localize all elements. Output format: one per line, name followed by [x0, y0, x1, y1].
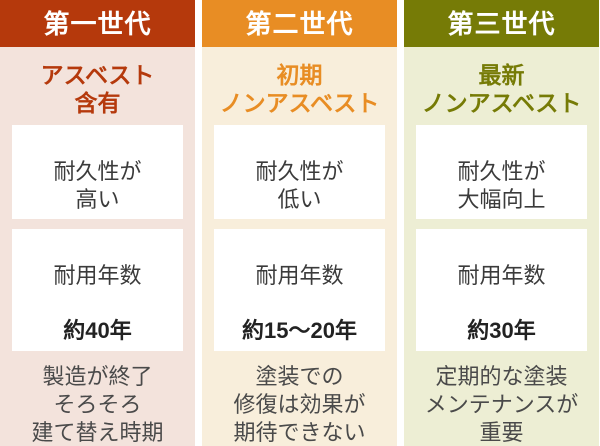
- column-subtitle: アスベスト 含有: [41, 61, 155, 117]
- comparison-column-generation-3: 第三世代 最新 ノンアスベスト 耐久性が 大幅向上 耐用年数 約30年 定期的な…: [404, 0, 599, 400]
- spec-card-durability: 耐久性が 大幅向上: [416, 125, 587, 219]
- spec-card-text: 耐久性が 高い: [53, 159, 141, 212]
- column-header-generation-1: 第一世代: [0, 0, 195, 47]
- column-divider: [195, 0, 202, 400]
- column-note: 定期的な塗装 メンテナンスが 重要: [425, 363, 579, 446]
- column-note: 塗装での 修復は効果が 期待できない: [233, 363, 365, 446]
- column-subtitle: 初期 ノンアスベスト: [220, 61, 380, 117]
- spec-card-durability: 耐久性が 高い: [12, 125, 183, 219]
- spec-card-durability: 耐久性が 低い: [214, 125, 385, 219]
- spec-card-service-life: 耐用年数 約40年: [12, 229, 183, 351]
- spec-card-text: 耐久性が 低い: [255, 159, 343, 212]
- spec-card-service-life: 耐用年数 約15〜20年: [214, 229, 385, 351]
- column-header-label: 第一世代: [43, 11, 151, 37]
- column-header-generation-3: 第三世代: [404, 0, 599, 47]
- column-subtitle: 最新 ノンアスベスト: [422, 61, 582, 117]
- column-note: 製造が終了 そろそろ 建て替え時期: [31, 363, 163, 446]
- spec-card-value: 約40年: [63, 318, 131, 343]
- comparison-column-generation-2: 第二世代 初期 ノンアスベスト 耐久性が 低い 耐用年数 約15〜20年 塗装で…: [202, 0, 397, 400]
- spec-card-service-life: 耐用年数 約30年: [416, 229, 587, 351]
- spec-card-value: 約15〜20年: [242, 318, 357, 343]
- spec-card-text: 耐久性が 大幅向上: [457, 159, 545, 212]
- spec-card-text: 耐用年数: [457, 263, 545, 288]
- column-body-generation-2: 初期 ノンアスベスト 耐久性が 低い 耐用年数 約15〜20年 塗装での 修復は…: [202, 47, 397, 446]
- column-body-generation-1: アスベスト 含有 耐久性が 高い 耐用年数 約40年 製造が終了 そろそろ 建て…: [0, 47, 195, 446]
- column-body-generation-3: 最新 ノンアスベスト 耐久性が 大幅向上 耐用年数 約30年 定期的な塗装 メン…: [404, 47, 599, 446]
- column-header-label: 第二世代: [245, 11, 353, 37]
- comparison-board: 第一世代 アスベスト 含有 耐久性が 高い 耐用年数 約40年 製造が終了 そろ…: [0, 0, 600, 400]
- column-header-generation-2: 第二世代: [202, 0, 397, 47]
- column-divider: [397, 0, 404, 400]
- spec-card-text: 耐用年数: [53, 263, 141, 288]
- comparison-column-generation-1: 第一世代 アスベスト 含有 耐久性が 高い 耐用年数 約40年 製造が終了 そろ…: [0, 0, 195, 400]
- column-header-label: 第三世代: [447, 11, 555, 37]
- spec-card-value: 約30年: [467, 318, 535, 343]
- spec-card-text: 耐用年数: [255, 263, 343, 288]
